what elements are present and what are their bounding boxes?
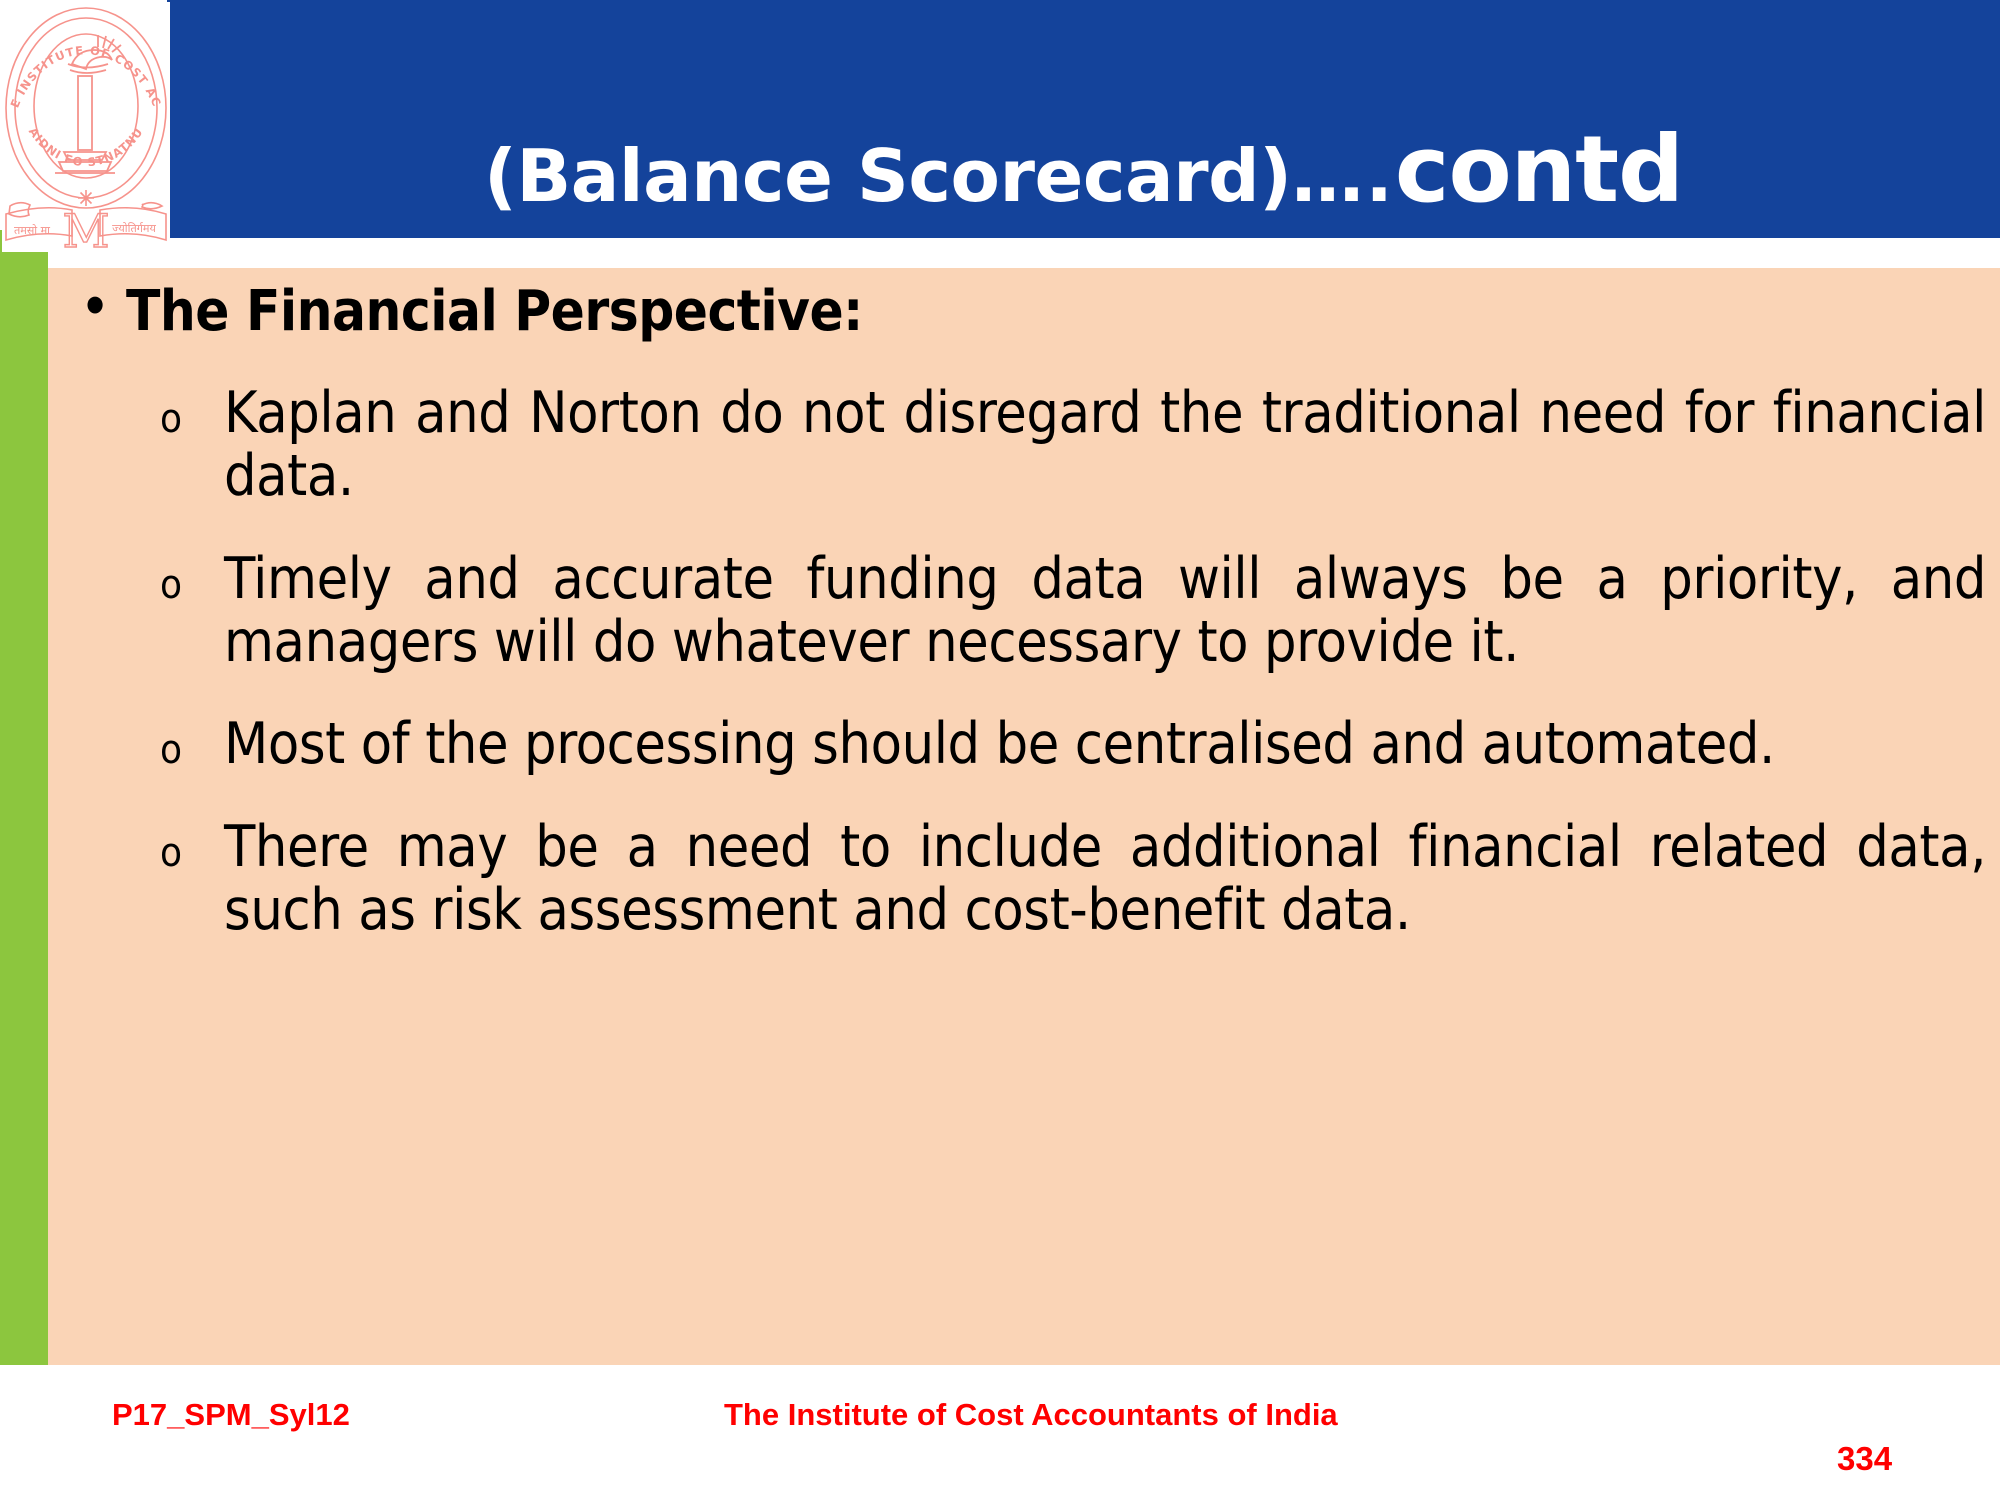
presentation-slide: (Balance Scorecard)….contd THE INSTITUTE… bbox=[0, 0, 2000, 1500]
institute-logo: THE INSTITUTE OF COST ACCO AIDNI FO STNA… bbox=[2, 2, 170, 252]
slide-header-band: (Balance Scorecard)….contd bbox=[167, 0, 2000, 238]
footer-organisation: The Institute of Cost Accountants of Ind… bbox=[724, 1397, 1338, 1433]
slide-title-main: (Balance Scorecard) bbox=[484, 134, 1292, 218]
list-item: o Most of the processing should be centr… bbox=[64, 713, 1986, 776]
lead-bullet: • The Financial Perspective: bbox=[64, 282, 1986, 342]
sub-bullet-marker: o bbox=[160, 816, 224, 877]
sub-bullet-text: There may be a need to include additiona… bbox=[224, 816, 1986, 941]
slide-title: (Balance Scorecard)….contd bbox=[167, 124, 2000, 216]
list-item: o There may be a need to include additio… bbox=[64, 816, 1986, 941]
logo-monogram: M bbox=[62, 204, 109, 252]
lead-bullet-text: The Financial Perspective: bbox=[126, 282, 863, 342]
left-accent-bar bbox=[0, 230, 48, 1500]
sub-bullet-marker: o bbox=[160, 713, 224, 774]
sub-bullet-text: Most of the processing should be central… bbox=[224, 713, 1986, 776]
footer-course-code: P17_SPM_Syl12 bbox=[112, 1397, 350, 1433]
list-item: o Timely and accurate funding data will … bbox=[64, 548, 1986, 673]
sub-bullet-text: Kaplan and Norton do not disregard the t… bbox=[224, 382, 1986, 507]
slide-title-ellipsis: …. bbox=[1292, 134, 1395, 218]
sub-bullet-text: Timely and accurate funding data will al… bbox=[224, 548, 1986, 673]
lead-bullet-marker: • bbox=[64, 282, 126, 334]
slide-title-contd: contd bbox=[1395, 116, 1683, 223]
sub-bullet-marker: o bbox=[160, 382, 224, 443]
footer-page-number: 334 bbox=[1837, 1440, 1892, 1478]
institute-logo-artwork: THE INSTITUTE OF COST ACCO AIDNI FO STNA… bbox=[2, 2, 170, 252]
slide-body: • The Financial Perspective: o Kaplan an… bbox=[64, 268, 1986, 941]
slide-footer: P17_SPM_Syl12 The Institute of Cost Acco… bbox=[0, 1365, 2000, 1500]
slide-content-panel: • The Financial Perspective: o Kaplan an… bbox=[48, 268, 2000, 1365]
list-item: o Kaplan and Norton do not disregard the… bbox=[64, 382, 1986, 507]
logo-motto-right: ज्योतिर्गमय bbox=[112, 222, 156, 235]
sub-bullet-marker: o bbox=[160, 548, 224, 609]
logo-motto-left: तमसो मा bbox=[14, 224, 50, 237]
